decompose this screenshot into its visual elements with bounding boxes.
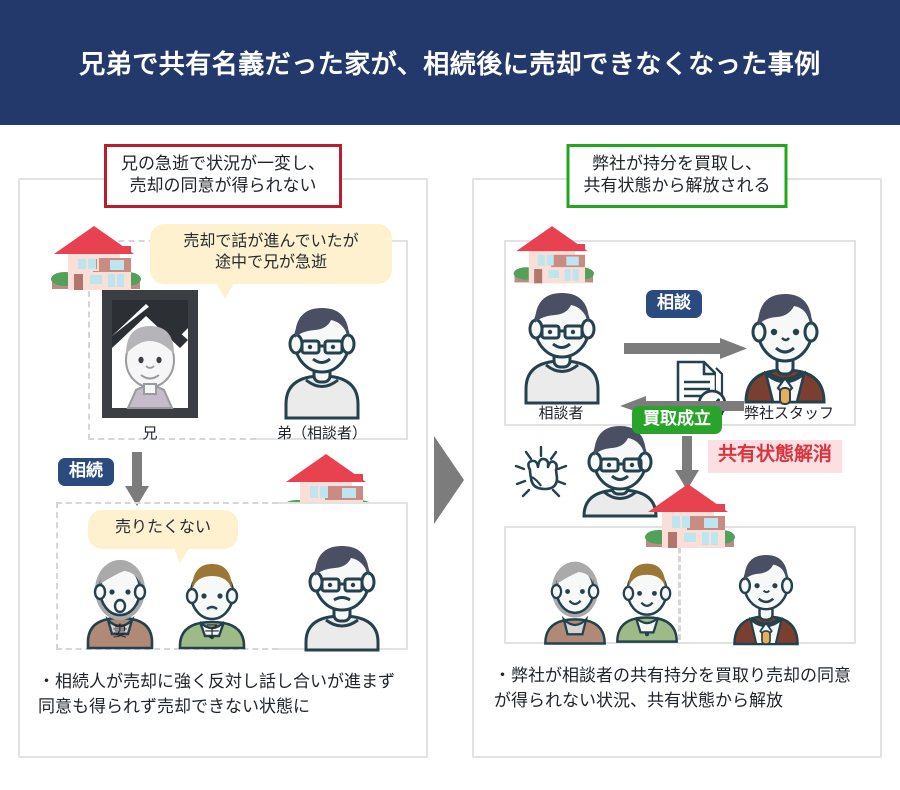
wife-avatar-happy — [536, 552, 614, 644]
staff-avatar — [732, 278, 838, 404]
memorial-portrait-icon — [102, 290, 198, 418]
raised-fist-icon — [510, 444, 572, 506]
right-panel-header: 弊社が持分を買取し、 共有状態から解放される — [567, 144, 788, 208]
badge-shared-state-resolved: 共有状態解消 — [708, 440, 842, 473]
page-title: 兄弟で共有名義だった家が、相続後に売却できなくなった事例 — [79, 44, 820, 81]
left-header-line-1: 兄の急逝で状況が一変し、 — [121, 153, 325, 175]
bubble-line-2: 途中で兄が急逝 — [215, 254, 327, 271]
bubble-line-1: 売却で話が進んでいたが — [183, 233, 358, 250]
bubble-dont-want-to-sell: 売りたくない — [88, 510, 238, 549]
badge-deal-closed: 買取成立 — [632, 406, 722, 434]
left-header-line-2: 売却の同意が得られない — [121, 175, 325, 197]
client-avatar — [512, 280, 612, 404]
label-elder-brother: 兄 — [102, 422, 198, 443]
left-panel: 兄の急逝で状況が一変し、 売却の同意が得られない — [18, 178, 428, 758]
right-header-line-1: 弊社が持分を買取し、 — [584, 153, 771, 175]
label-staff: 弊社スタッフ — [724, 402, 854, 423]
badge-inheritance: 相続 — [58, 458, 114, 486]
house-icon-bottom — [632, 480, 744, 566]
badge-consult: 相談 — [646, 290, 702, 318]
left-panel-note: ・相続人が売却に強く反対し話し合いが進まず同意も得られず売却できない状態に — [38, 670, 398, 719]
arrow-right-icon — [624, 338, 748, 360]
younger-brother-avatar — [272, 296, 372, 418]
right-header-line-2: 共有状態から解放される — [584, 175, 771, 197]
younger-brother-avatar-worried — [292, 534, 392, 650]
right-panel: 弊社が持分を買取し、 共有状態から解放される — [472, 178, 882, 758]
center-chevron-arrow-icon — [434, 430, 468, 524]
arrow-down-icon — [124, 452, 150, 508]
right-panel-note: ・弊社が相談者の共有持分を買取り売却の同意が得られない状況、共有状態から解放 — [494, 664, 854, 713]
label-client: 相談者 — [508, 402, 614, 423]
left-panel-header: 兄の急逝で状況が一変し、 売却の同意が得られない — [104, 144, 342, 208]
infographic-root: 兄弟で共有名義だった家が、相続後に売却できなくなった事例 兄の急逝で状況が一変し… — [0, 0, 900, 790]
bubble-sale-in-progress: 売却で話が進んでいたが 途中で兄が急逝 — [150, 224, 392, 284]
label-wife: 妻 — [78, 620, 162, 641]
label-younger-brother: 弟（相談者） — [260, 422, 384, 443]
label-child: 子 — [170, 620, 254, 641]
title-bar: 兄弟で共有名義だった家が、相続後に売却できなくなった事例 — [0, 0, 900, 125]
